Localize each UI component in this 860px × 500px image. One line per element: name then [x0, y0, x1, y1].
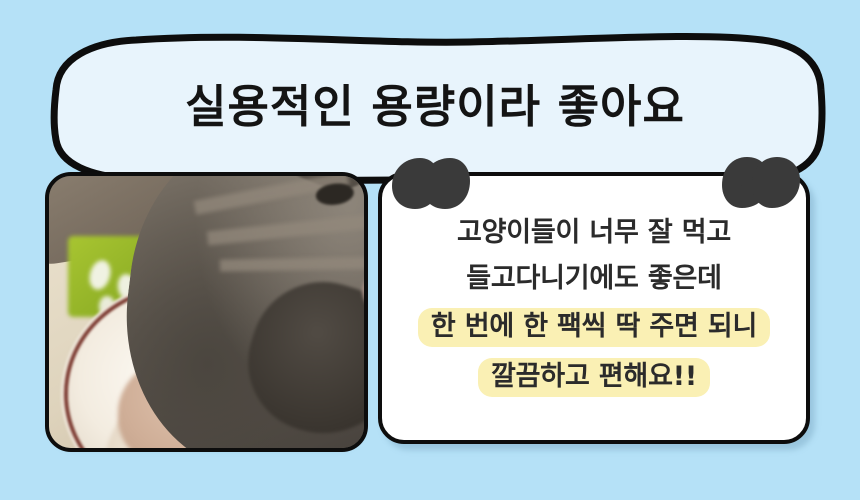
review-line-text: 고양이들이 너무 잘 먹고 — [457, 217, 731, 248]
cat-muzzle — [230, 264, 364, 448]
review-text-block: 고양이들이 너무 잘 먹고 들고다니기에도 좋은데 한 번에 한 팩씩 딱 주면… — [378, 210, 810, 402]
cat-stripe — [206, 214, 364, 245]
speech-bubble-title: 실용적인 용량이라 좋아요 — [40, 84, 830, 129]
review-graphic: 실용적인 용량이라 좋아요 — [0, 0, 860, 500]
review-line-text: 깔끔하고 편해요!! — [478, 358, 710, 397]
review-line: 들고다니기에도 좋은데 — [378, 256, 810, 302]
quote-close-icon — [718, 152, 804, 210]
cat-photo — [45, 172, 368, 452]
cat-stripe — [220, 258, 364, 273]
review-line: 고양이들이 너무 잘 먹고 — [378, 210, 810, 256]
review-line-highlighted: 깔끔하고 편해요!! — [378, 352, 810, 402]
cat-photo-scene — [49, 176, 364, 448]
review-line-text: 한 번에 한 팩씩 딱 주면 되니 — [418, 308, 770, 347]
quote-open-icon — [390, 156, 476, 214]
review-line-highlighted: 한 번에 한 팩씩 딱 주면 되니 — [378, 302, 810, 352]
review-line-text: 들고다니기에도 좋은데 — [466, 263, 722, 294]
